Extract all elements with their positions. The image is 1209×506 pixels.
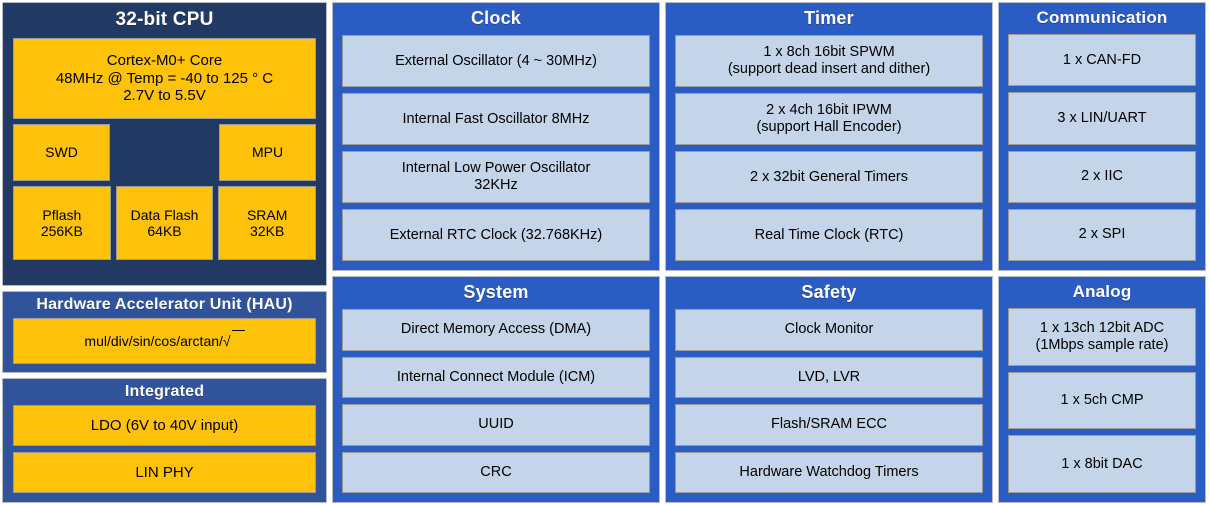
block-ldo[interactable]: LDO (6V to 40V input) xyxy=(13,405,316,446)
block-ipwm[interactable]: 2 x 4ch 16bit IPWM (support Hall Encoder… xyxy=(675,93,983,145)
block-mpu[interactable]: MPU xyxy=(219,124,316,181)
panel-timer-title: Timer xyxy=(666,3,992,35)
block-clock-monitor-line1: Clock Monitor xyxy=(785,321,874,338)
block-swd-label: SWD xyxy=(45,144,78,160)
panel-hau-title: Hardware Accelerator Unit (HAU) xyxy=(3,292,326,318)
block-rtc[interactable]: Real Time Clock (RTC) xyxy=(675,209,983,261)
panel-integrated-body: LDO (6V to 40V input) LIN PHY xyxy=(3,405,326,502)
cpu-memory-row: Pflash 256KB Data Flash 64KB SRAM 32KB xyxy=(13,186,316,260)
panel-system: System Direct Memory Access (DMA) Intern… xyxy=(332,276,660,503)
block-lin-uart[interactable]: 3 x LIN/UART xyxy=(1008,92,1196,144)
block-cortex-core-line3: 2.7V to 5.5V xyxy=(123,87,206,104)
cpu-row-spacer xyxy=(115,124,214,181)
block-lin-phy[interactable]: LIN PHY xyxy=(13,452,316,493)
block-watchdog-timers[interactable]: Hardware Watchdog Timers xyxy=(675,452,983,494)
block-cmp[interactable]: 1 x 5ch CMP xyxy=(1008,372,1196,430)
block-internal-fast-oscillator[interactable]: Internal Fast Oscillator 8MHz xyxy=(342,93,650,145)
block-hau-functions[interactable]: mul/div/sin/cos/arctan/√ xyxy=(13,318,316,364)
panel-timer: Timer 1 x 8ch 16bit SPWM (support dead i… xyxy=(665,2,993,271)
block-cmp-line1: 1 x 5ch CMP xyxy=(1061,392,1144,409)
block-spwm[interactable]: 1 x 8ch 16bit SPWM (support dead insert … xyxy=(675,35,983,87)
block-icm-line1: Internal Connect Module (ICM) xyxy=(397,369,595,386)
block-lin-phy-label: LIN PHY xyxy=(135,464,193,481)
block-cortex-core[interactable]: Cortex-M0+ Core 48MHz @ Temp = -40 to 12… xyxy=(13,38,316,119)
sqrt-icon: √ xyxy=(223,333,231,349)
block-spwm-line2: (support dead insert and dither) xyxy=(728,61,930,78)
block-external-rtc-clock-line1: External RTC Clock (32.768KHz) xyxy=(390,227,602,244)
sqrt-overline xyxy=(232,330,245,341)
block-internal-fast-oscillator-line1: Internal Fast Oscillator 8MHz xyxy=(403,111,590,128)
panel-analog-body: 1 x 13ch 12bit ADC (1Mbps sample rate) 1… xyxy=(999,308,1205,502)
block-spi[interactable]: 2 x SPI xyxy=(1008,209,1196,261)
block-rtc-line1: Real Time Clock (RTC) xyxy=(755,227,904,244)
block-general-timers-line1: 2 x 32bit General Timers xyxy=(750,169,908,186)
block-can-fd-line1: 1 x CAN-FD xyxy=(1063,52,1141,69)
clock-system-column: Clock External Oscillator (4 ~ 30MHz) In… xyxy=(332,2,660,503)
block-sram[interactable]: SRAM 32KB xyxy=(218,186,316,260)
block-uuid-line1: UUID xyxy=(478,416,513,433)
panel-clock-body: External Oscillator (4 ~ 30MHz) Internal… xyxy=(333,35,659,270)
block-crc[interactable]: CRC xyxy=(342,452,650,494)
block-mpu-label: MPU xyxy=(252,144,283,160)
block-iic[interactable]: 2 x IIC xyxy=(1008,151,1196,203)
block-uuid[interactable]: UUID xyxy=(342,404,650,446)
block-lin-uart-line1: 3 x LIN/UART xyxy=(1057,110,1146,127)
block-ldo-label: LDO (6V to 40V input) xyxy=(91,417,239,434)
panel-cpu: 32-bit CPU Cortex-M0+ Core 48MHz @ Temp … xyxy=(2,2,327,286)
block-dac[interactable]: 1 x 8bit DAC xyxy=(1008,435,1196,493)
block-dma-line1: Direct Memory Access (DMA) xyxy=(401,321,591,338)
panel-integrated: Integrated LDO (6V to 40V input) LIN PHY xyxy=(2,378,327,503)
block-icm[interactable]: Internal Connect Module (ICM) xyxy=(342,357,650,399)
block-iic-line1: 2 x IIC xyxy=(1081,168,1123,185)
block-hau-functions-text: mul/div/sin/cos/arctan/√ xyxy=(84,333,244,349)
panel-cpu-title: 32-bit CPU xyxy=(3,3,326,38)
hau-ops-label: mul/div/sin/cos/arctan/ xyxy=(84,333,223,349)
panel-communication-title: Communication xyxy=(999,3,1205,34)
cpu-debug-row: SWD MPU xyxy=(13,124,316,181)
panel-hau: Hardware Accelerator Unit (HAU) mul/div/… xyxy=(2,291,327,373)
block-pflash[interactable]: Pflash 256KB xyxy=(13,186,111,260)
block-swd[interactable]: SWD xyxy=(13,124,110,181)
block-spwm-line1: 1 x 8ch 16bit SPWM xyxy=(763,44,894,61)
block-cortex-core-line1: Cortex-M0+ Core xyxy=(107,52,222,69)
block-flash-sram-ecc[interactable]: Flash/SRAM ECC xyxy=(675,404,983,446)
block-internal-low-power-oscillator-line2: 32KHz xyxy=(474,177,518,194)
block-data-flash-line1: Data Flash xyxy=(131,207,199,223)
panel-safety: Safety Clock Monitor LVD, LVR Flash/SRAM… xyxy=(665,276,993,503)
panel-cpu-body: Cortex-M0+ Core 48MHz @ Temp = -40 to 12… xyxy=(3,38,326,285)
panel-timer-body: 1 x 8ch 16bit SPWM (support dead insert … xyxy=(666,35,992,270)
panel-integrated-title: Integrated xyxy=(3,379,326,405)
panel-clock-title: Clock xyxy=(333,3,659,35)
panel-system-body: Direct Memory Access (DMA) Internal Conn… xyxy=(333,309,659,502)
panel-communication: Communication 1 x CAN-FD 3 x LIN/UART 2 … xyxy=(998,2,1206,271)
block-internal-low-power-oscillator[interactable]: Internal Low Power Oscillator 32KHz xyxy=(342,151,650,203)
panel-communication-body: 1 x CAN-FD 3 x LIN/UART 2 x IIC 2 x SPI xyxy=(999,34,1205,270)
communication-analog-column: Communication 1 x CAN-FD 3 x LIN/UART 2 … xyxy=(998,2,1206,503)
block-internal-low-power-oscillator-line1: Internal Low Power Oscillator xyxy=(402,160,591,177)
block-external-oscillator[interactable]: External Oscillator (4 ~ 30MHz) xyxy=(342,35,650,87)
block-data-flash-line2: 64KB xyxy=(147,223,181,239)
block-ipwm-line1: 2 x 4ch 16bit IPWM xyxy=(766,102,892,119)
block-spi-line1: 2 x SPI xyxy=(1079,226,1126,243)
block-sram-line1: SRAM xyxy=(247,207,287,223)
block-lvd-lvr-line1: LVD, LVR xyxy=(798,369,860,386)
block-adc[interactable]: 1 x 13ch 12bit ADC (1Mbps sample rate) xyxy=(1008,308,1196,366)
block-data-flash[interactable]: Data Flash 64KB xyxy=(116,186,214,260)
mcu-block-diagram: 32-bit CPU Cortex-M0+ Core 48MHz @ Temp … xyxy=(0,0,1209,506)
block-can-fd[interactable]: 1 x CAN-FD xyxy=(1008,34,1196,86)
block-watchdog-timers-line1: Hardware Watchdog Timers xyxy=(739,464,918,481)
block-sram-line2: 32KB xyxy=(250,223,284,239)
panel-hau-body: mul/div/sin/cos/arctan/√ xyxy=(3,318,326,372)
block-ipwm-line2: (support Hall Encoder) xyxy=(756,119,901,136)
block-cortex-core-line2: 48MHz @ Temp = -40 to 125 ° C xyxy=(56,70,273,87)
block-general-timers[interactable]: 2 x 32bit General Timers xyxy=(675,151,983,203)
panel-safety-title: Safety xyxy=(666,277,992,309)
block-clock-monitor[interactable]: Clock Monitor xyxy=(675,309,983,351)
panel-safety-body: Clock Monitor LVD, LVR Flash/SRAM ECC Ha… xyxy=(666,309,992,502)
panel-clock: Clock External Oscillator (4 ~ 30MHz) In… xyxy=(332,2,660,271)
panel-analog: Analog 1 x 13ch 12bit ADC (1Mbps sample … xyxy=(998,276,1206,503)
block-pflash-line2: 256KB xyxy=(41,223,83,239)
block-crc-line1: CRC xyxy=(480,464,511,481)
block-dma[interactable]: Direct Memory Access (DMA) xyxy=(342,309,650,351)
block-flash-sram-ecc-line1: Flash/SRAM ECC xyxy=(771,416,887,433)
block-external-oscillator-line1: External Oscillator (4 ~ 30MHz) xyxy=(395,53,597,70)
timer-safety-column: Timer 1 x 8ch 16bit SPWM (support dead i… xyxy=(665,2,993,503)
block-pflash-line1: Pflash xyxy=(42,207,81,223)
block-lvd-lvr[interactable]: LVD, LVR xyxy=(675,357,983,399)
left-column: 32-bit CPU Cortex-M0+ Core 48MHz @ Temp … xyxy=(2,2,327,503)
block-adc-line2: (1Mbps sample rate) xyxy=(1036,337,1169,354)
block-dac-line1: 1 x 8bit DAC xyxy=(1061,456,1142,473)
block-adc-line1: 1 x 13ch 12bit ADC xyxy=(1040,320,1164,337)
block-external-rtc-clock[interactable]: External RTC Clock (32.768KHz) xyxy=(342,209,650,261)
panel-analog-title: Analog xyxy=(999,277,1205,308)
panel-system-title: System xyxy=(333,277,659,309)
